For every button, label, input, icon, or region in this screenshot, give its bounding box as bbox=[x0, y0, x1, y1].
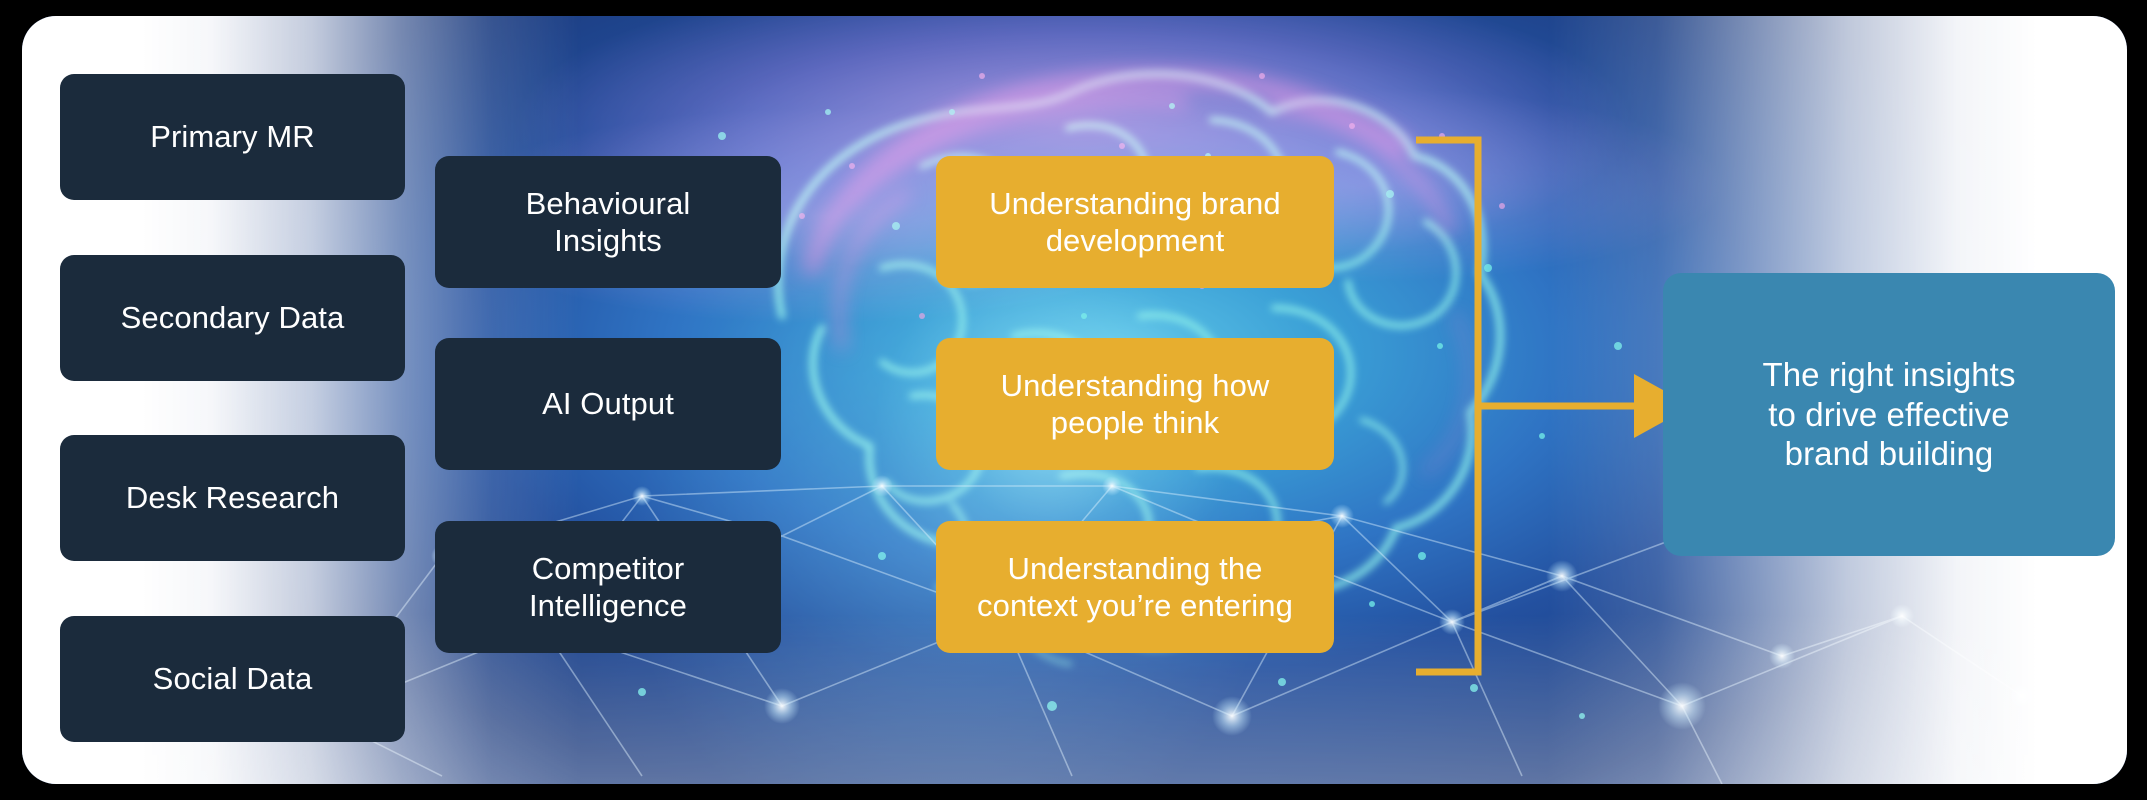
method-card-competitor-intelligence[interactable]: Competitor Intelligence bbox=[435, 521, 781, 653]
input-card-social-data[interactable]: Social Data bbox=[60, 616, 405, 742]
understanding-card-how-people-think[interactable]: Understanding how people think bbox=[936, 338, 1334, 470]
understanding-card-context-entering[interactable]: Understanding the context you’re enterin… bbox=[936, 521, 1334, 653]
input-card-desk-research[interactable]: Desk Research bbox=[60, 435, 405, 561]
understanding-card-brand-development[interactable]: Understanding brand development bbox=[936, 156, 1334, 288]
method-card-behavioural-insights[interactable]: Behavioural Insights bbox=[435, 156, 781, 288]
input-card-secondary-data[interactable]: Secondary Data bbox=[60, 255, 405, 381]
outcome-card-right-insights[interactable]: The right insights to drive effective br… bbox=[1663, 273, 2115, 556]
slide-canvas: Primary MR Secondary Data Desk Research … bbox=[22, 16, 2127, 784]
input-card-primary-mr[interactable]: Primary MR bbox=[60, 74, 405, 200]
method-card-ai-output[interactable]: AI Output bbox=[435, 338, 781, 470]
